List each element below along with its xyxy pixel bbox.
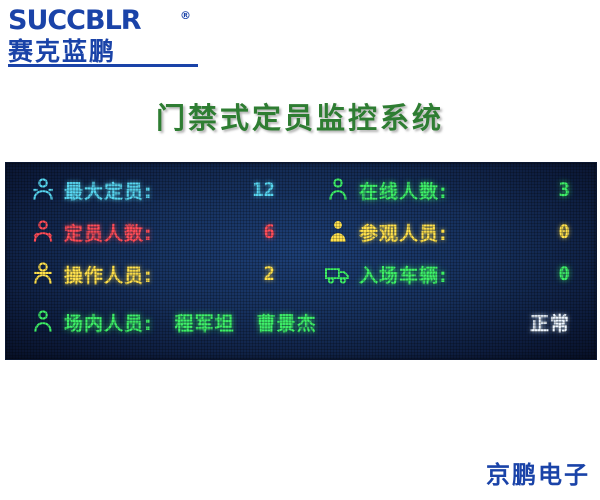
led-row: 定员人数: 6 参观人员: 0 bbox=[6, 213, 596, 251]
led-display-panel: 最大定员: 12 在线人数: 3 定员人数: 6 bbox=[5, 162, 597, 360]
led-label: 在线人数: bbox=[359, 177, 448, 204]
truck-green-icon bbox=[325, 261, 351, 287]
led-value: 0 bbox=[559, 221, 570, 243]
footer-company-name: 京鹏电子 bbox=[486, 455, 590, 490]
led-cell-operators: 操作人员: 2 bbox=[6, 255, 301, 293]
brand-chinese-name: 赛克蓝鹏 bbox=[8, 38, 258, 66]
person-yellow-icon bbox=[30, 261, 56, 287]
status-badge: 正常 bbox=[530, 309, 570, 336]
person-yellow-icon bbox=[325, 219, 351, 245]
onsite-name-2: 曹景杰 bbox=[257, 309, 317, 336]
led-row: 最大定员: 12 在线人数: 3 bbox=[6, 171, 596, 209]
led-cell-vehicles: 入场车辆: 0 bbox=[301, 255, 596, 293]
led-cell-online-count: 在线人数: 3 bbox=[301, 171, 596, 209]
brand-english-name: SUCCBLR bbox=[8, 6, 258, 36]
led-label: 操作人员: bbox=[64, 261, 153, 288]
person-cyan-icon bbox=[30, 177, 56, 203]
led-row-onsite-personnel: 场内人员: 程军坦 曹景杰 正常 bbox=[6, 303, 596, 341]
brand-underline-divider bbox=[8, 64, 198, 67]
page-title: 门禁式定员监控系统 bbox=[0, 95, 600, 137]
person-green-icon bbox=[30, 309, 56, 335]
led-label: 参观人员: bbox=[359, 219, 448, 246]
led-label-onsite: 场内人员: bbox=[64, 309, 153, 336]
led-label: 最大定员: bbox=[64, 177, 153, 204]
led-label: 入场车辆: bbox=[359, 261, 448, 288]
person-red-icon bbox=[30, 219, 56, 245]
led-cell-max-capacity: 最大定员: 12 bbox=[6, 171, 301, 209]
led-cell-visitors: 参观人员: 0 bbox=[301, 213, 596, 251]
led-label: 定员人数: bbox=[64, 219, 153, 246]
led-value: 6 bbox=[264, 221, 275, 243]
led-value: 3 bbox=[559, 179, 570, 201]
trademark-icon: ® bbox=[180, 9, 191, 22]
led-value: 0 bbox=[559, 263, 570, 285]
onsite-name-1: 程军坦 bbox=[175, 309, 235, 336]
brand-logo: SUCCBLR ® 赛克蓝鹏 bbox=[8, 6, 258, 68]
led-row: 操作人员: 2 入场车辆: 0 bbox=[6, 255, 596, 293]
led-cell-staff-quota: 定员人数: 6 bbox=[6, 213, 301, 251]
person-green-icon bbox=[325, 177, 351, 203]
led-value: 12 bbox=[252, 179, 275, 201]
led-value: 2 bbox=[264, 263, 275, 285]
